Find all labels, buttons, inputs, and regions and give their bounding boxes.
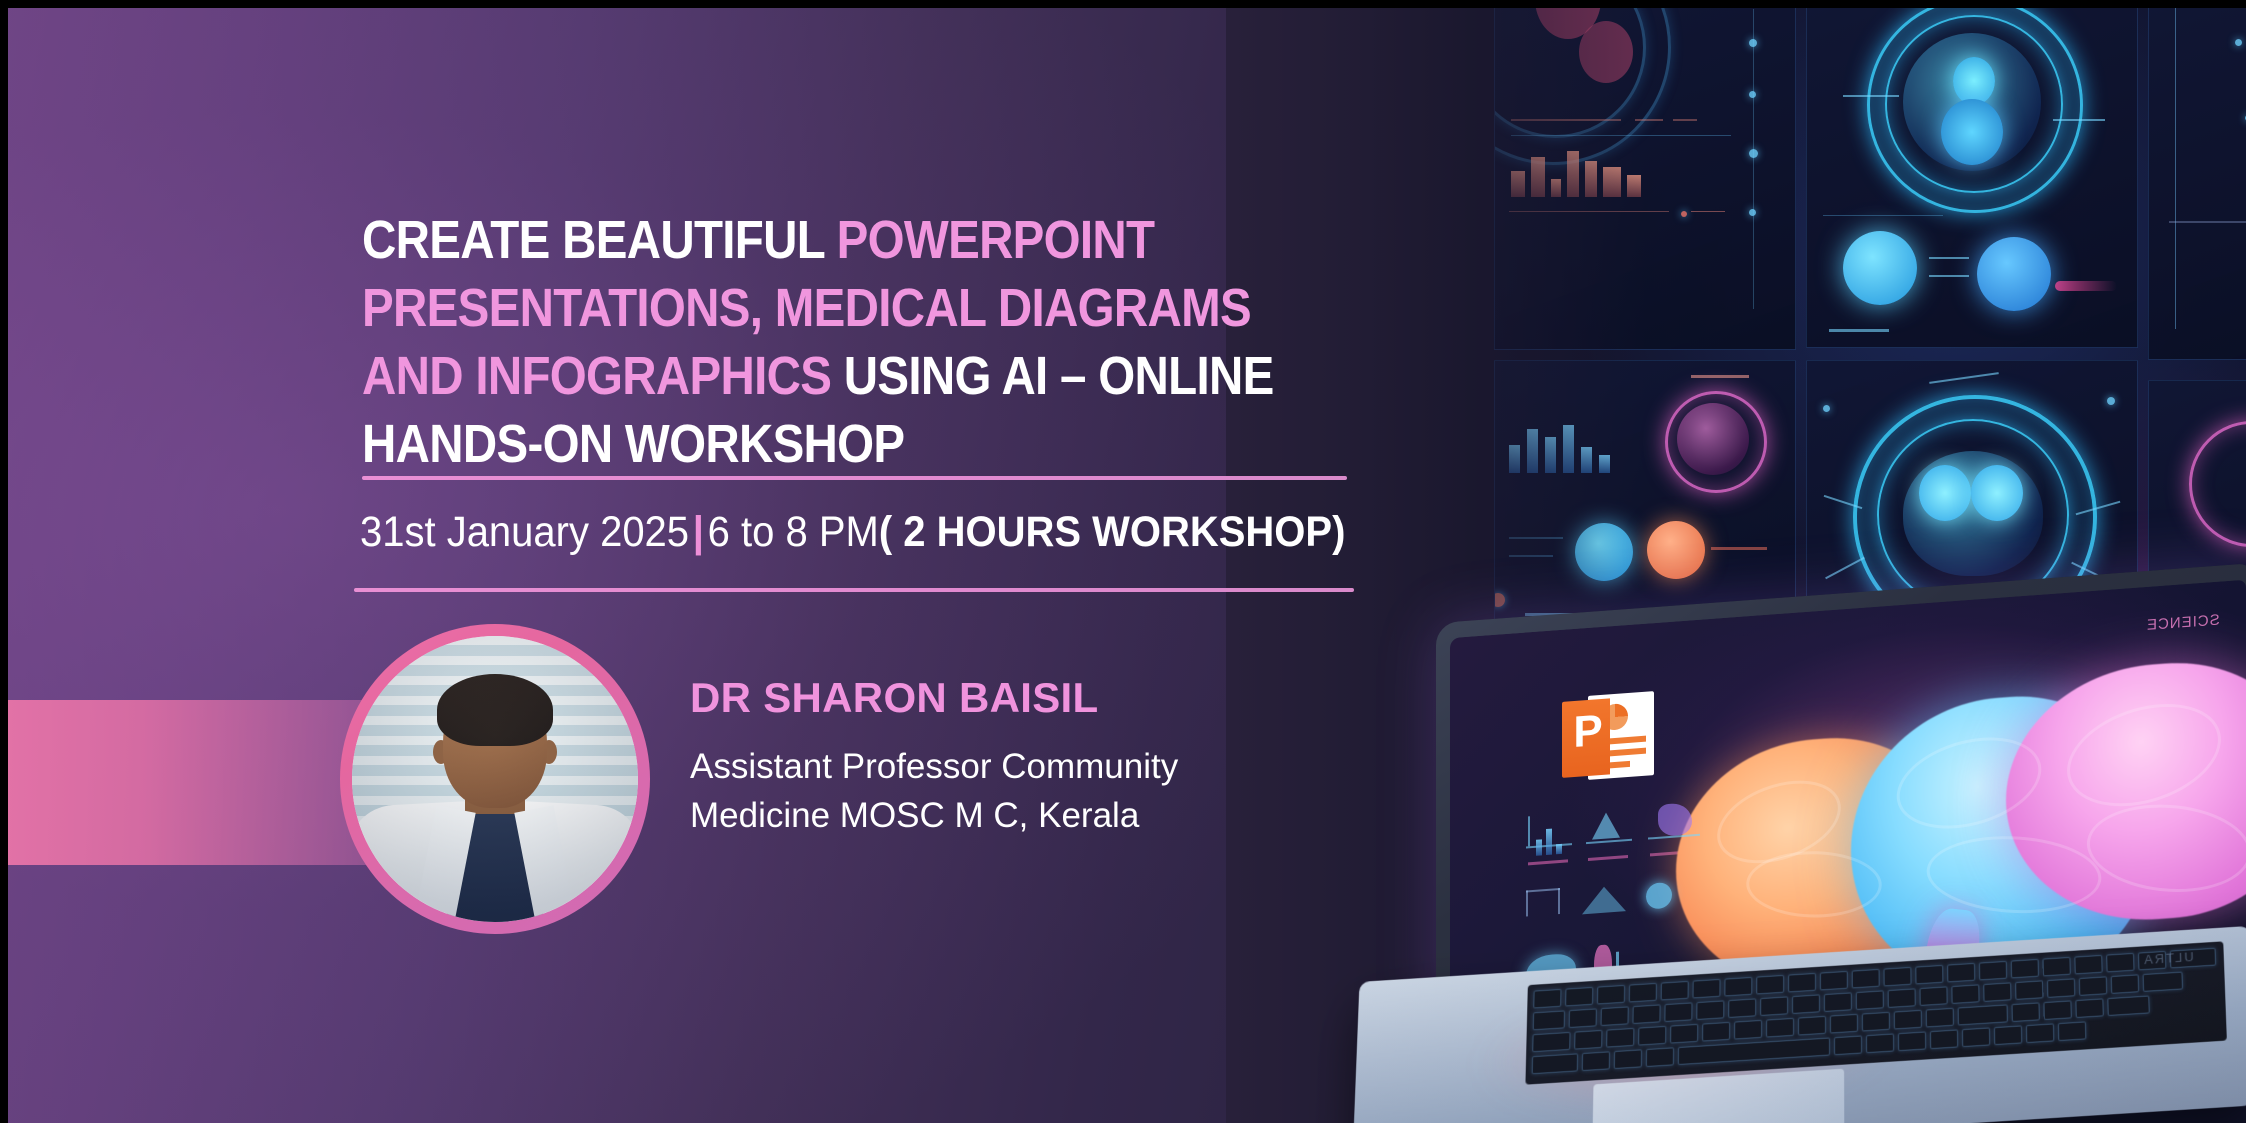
schedule-date: 31st January 2025: [360, 508, 689, 556]
screen-overlay-text: SCIENCE: [2146, 612, 2220, 634]
schedule-line: 31st January 2025|6 to 8 PM( 2 HOURS WOR…: [360, 504, 1345, 560]
headline: CREATE BEAUTIFUL POWERPOINT PRESENTATION…: [362, 206, 1277, 478]
schedule-duration: ( 2 HOURS WORKSHOP): [879, 508, 1346, 556]
tech-artwork: P: [1226, 8, 2246, 1123]
laptop-illustration: P: [1356, 593, 2246, 1123]
speaker-name: DR SHARON BAISIL: [690, 672, 1410, 724]
avatar-photo: [352, 636, 638, 922]
avatar: [340, 624, 650, 934]
schedule-time: 6 to 8 PM: [708, 508, 879, 556]
powerpoint-icon-letter: P: [1568, 708, 1608, 755]
speaker-role-line-1: Assistant Professor Community: [690, 742, 1410, 791]
divider-bottom: [354, 588, 1354, 592]
divider-top: [362, 476, 1347, 480]
speaker-role-line-2: Medicine MOSC M C, Kerala: [690, 791, 1410, 840]
workshop-promo-banner: P: [0, 0, 2246, 1123]
speaker-block: DR SHARON BAISIL Assistant Professor Com…: [690, 672, 1410, 840]
schedule-separator: |: [689, 508, 708, 556]
headline-white-lead: CREATE BEAUTIFUL: [362, 210, 837, 270]
dashboard-panel-side: [2148, 8, 2246, 360]
dashboard-panel-scan: [1806, 8, 2138, 348]
speaker-role: Assistant Professor Community Medicine M…: [690, 742, 1410, 840]
powerpoint-icon: P: [1562, 691, 1654, 782]
